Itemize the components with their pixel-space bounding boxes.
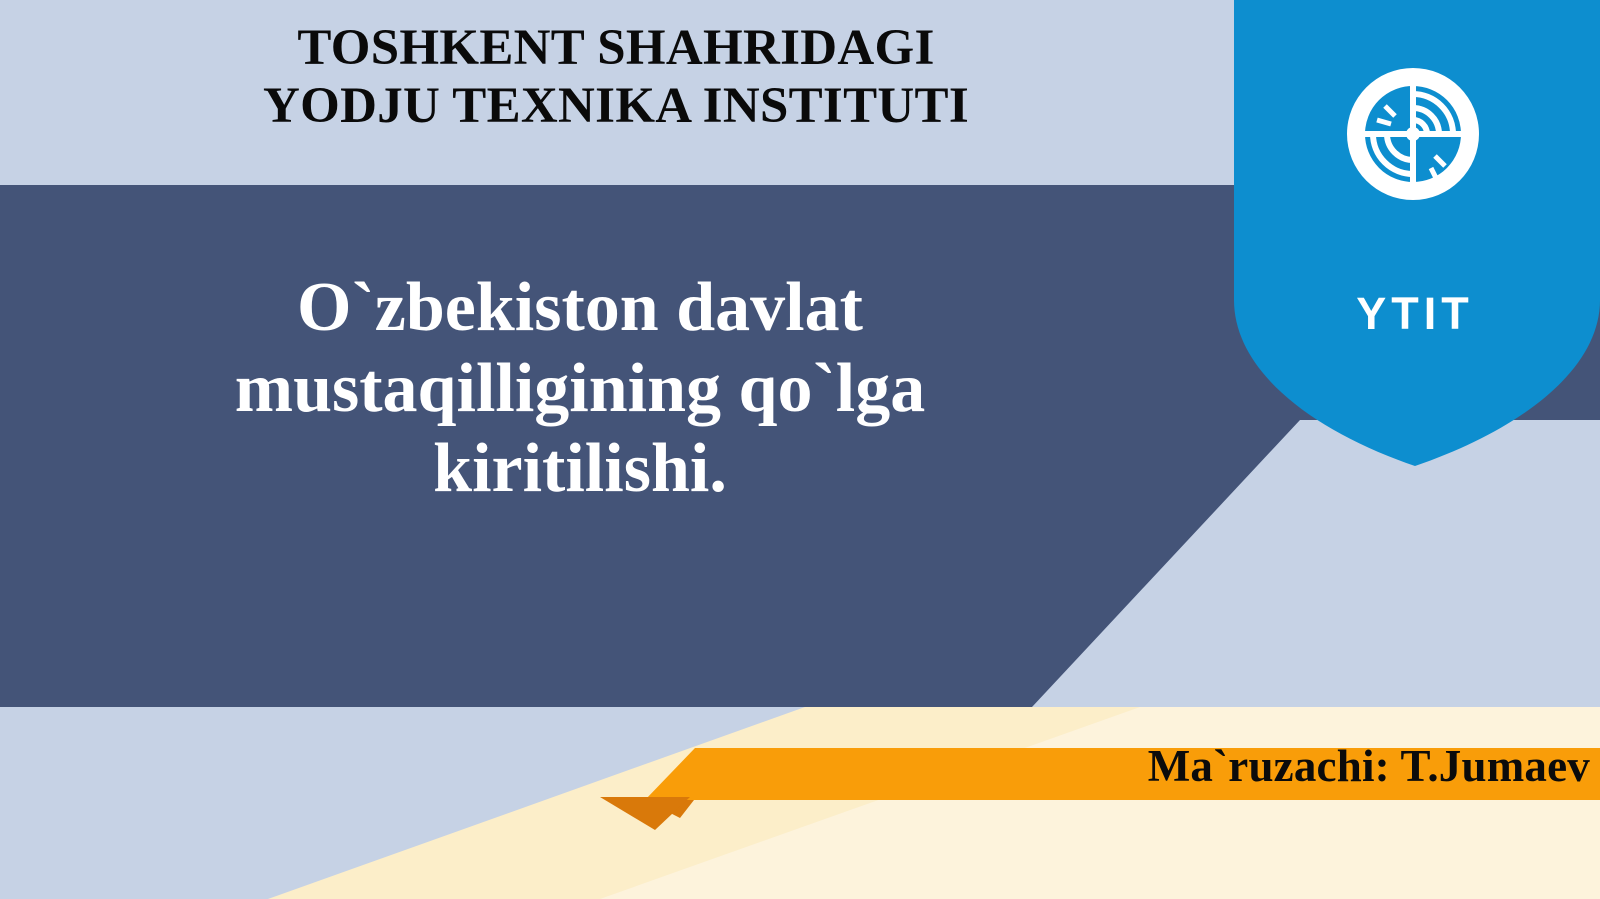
- slide-title: O`zbekiston davlat mustaqilligining qo`l…: [0, 268, 1160, 510]
- presentation-slide: TOSHKENT SHAHRIDAGI YODJU TEXNIKA INSTIT…: [0, 0, 1600, 899]
- slide-title-line-1: O`zbekiston davlat: [24, 268, 1136, 349]
- emblem-center-dot: [1406, 127, 1420, 141]
- shield-acronym: YTIT: [1310, 288, 1520, 340]
- presenter-label: Ma`ruzachi: T.Jumaev: [1148, 735, 1590, 797]
- globe-target-emblem: [1347, 68, 1479, 200]
- slide-title-line-3: kiritilishi.: [24, 429, 1136, 510]
- globe-target-emblem-graphic: [1347, 68, 1479, 200]
- institute-name-line-2: YODJU TEXNIKA INSTITUTI: [0, 78, 1232, 136]
- institute-name: TOSHKENT SHAHRIDAGI YODJU TEXNIKA INSTIT…: [0, 20, 1232, 135]
- slide-title-line-2: mustaqilligining qo`lga: [24, 349, 1136, 430]
- institute-name-line-1: TOSHKENT SHAHRIDAGI: [0, 20, 1232, 78]
